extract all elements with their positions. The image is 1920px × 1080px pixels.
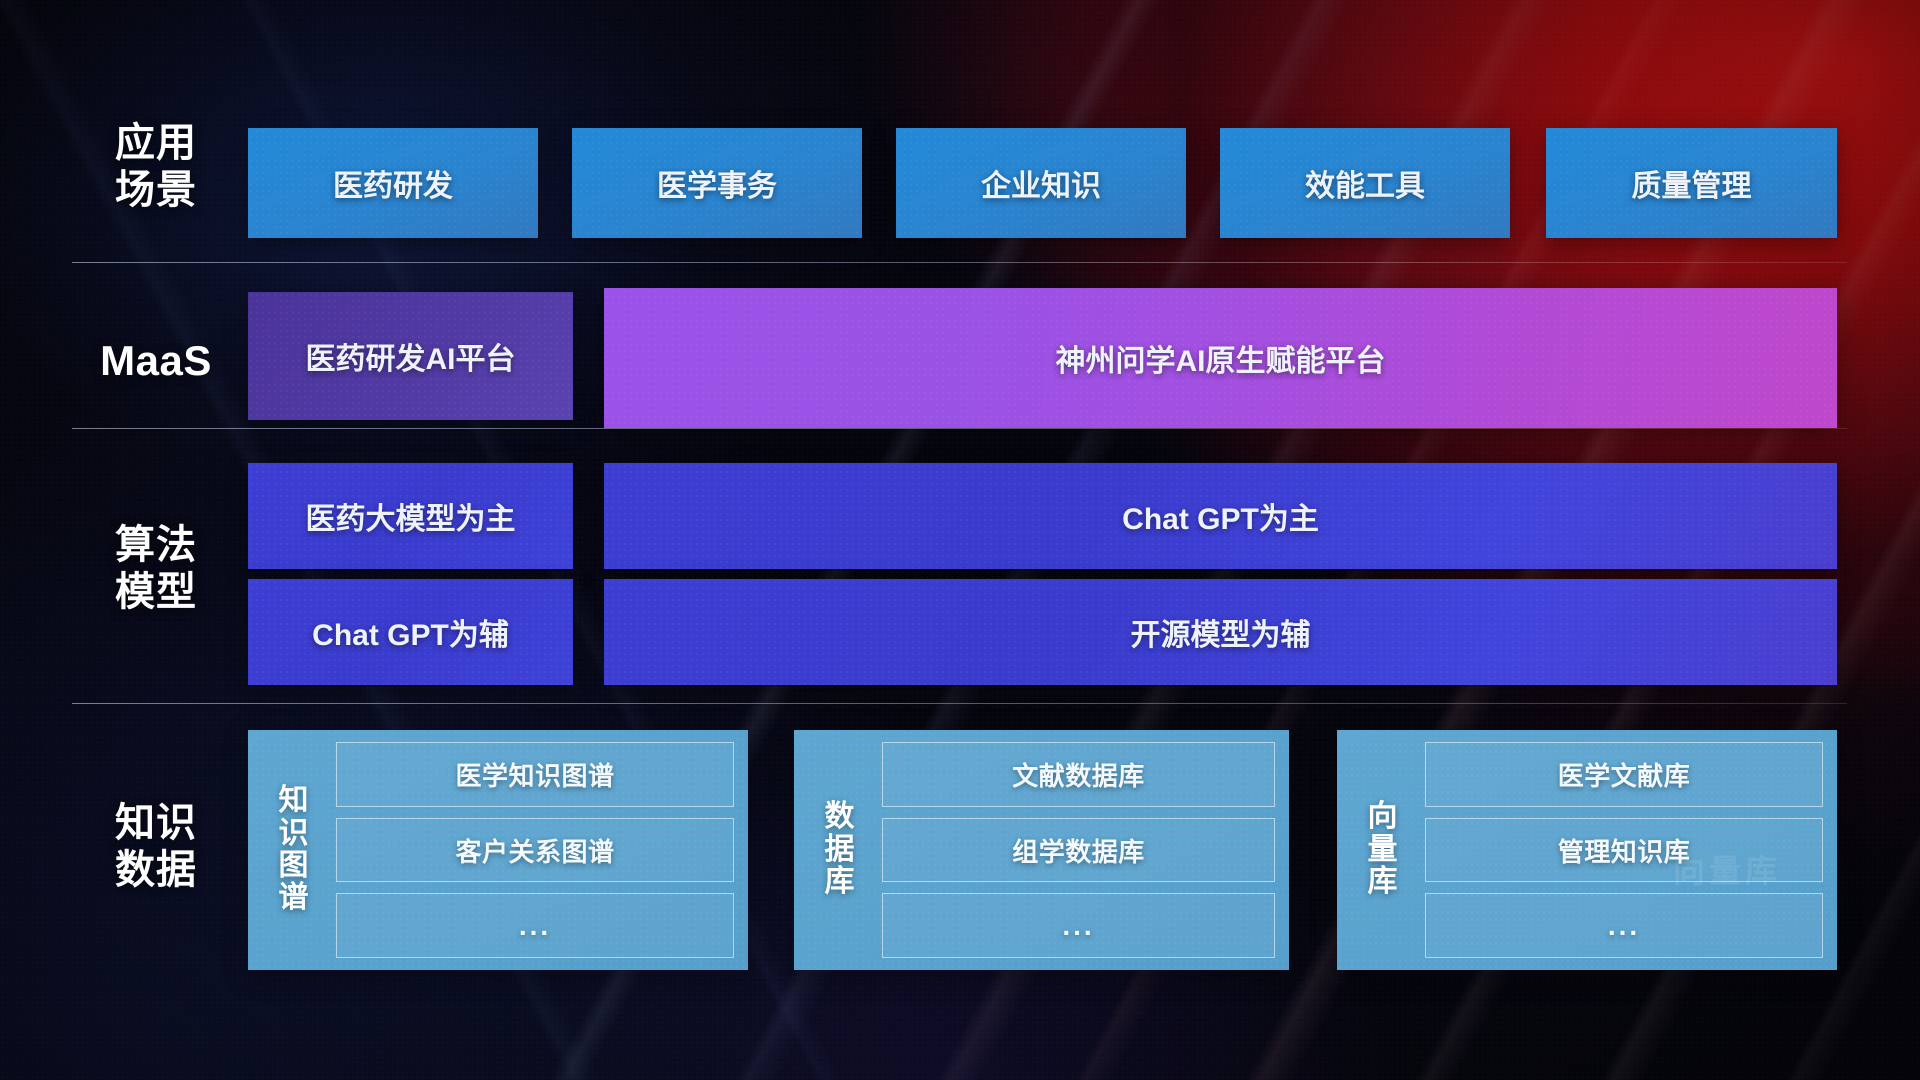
algorithm-box-chatgpt-primary[interactable]: Chat GPT为主 bbox=[604, 463, 1837, 569]
maas-box-pharma-ai-platform[interactable]: 医药研发AI平台 bbox=[248, 292, 573, 420]
diagram-canvas: 应用 场景 医药研发 医学事务 企业知识 效能工具 质量管理 MaaS 医药研发… bbox=[0, 0, 1920, 1080]
knowledge-group-vector-store[interactable]: 向 量 库 医学文献库 管理知识库 ... 向量库 bbox=[1337, 730, 1837, 970]
knowledge-group-title: 数 据 库 bbox=[794, 742, 872, 958]
row-label-application-scenarios: 应用 场景 bbox=[72, 120, 240, 214]
divider-after-maas bbox=[72, 428, 1847, 429]
knowledge-item[interactable]: 组学数据库 bbox=[882, 818, 1275, 883]
knowledge-group-items: 医学知识图谱 客户关系图谱 ... bbox=[326, 742, 734, 958]
algorithm-box-label: 医药大模型为主 bbox=[306, 494, 516, 538]
algorithm-box-label: 开源模型为辅 bbox=[1131, 610, 1311, 654]
knowledge-group-items: 文献数据库 组学数据库 ... bbox=[872, 742, 1275, 958]
algorithm-box-chatgpt-secondary[interactable]: Chat GPT为辅 bbox=[248, 579, 573, 685]
algorithm-box-pharma-large-model-primary[interactable]: 医药大模型为主 bbox=[248, 463, 573, 569]
knowledge-group-title: 向 量 库 bbox=[1337, 742, 1415, 958]
knowledge-item[interactable]: 管理知识库 bbox=[1425, 818, 1823, 883]
knowledge-item-more[interactable]: ... bbox=[882, 893, 1275, 958]
knowledge-group-database[interactable]: 数 据 库 文献数据库 组学数据库 ... bbox=[794, 730, 1289, 970]
app-box-label: 效能工具 bbox=[1305, 161, 1425, 205]
knowledge-group-items: 医学文献库 管理知识库 ... bbox=[1415, 742, 1823, 958]
app-box-pharma-rnd[interactable]: 医药研发 bbox=[248, 128, 538, 238]
app-box-medical-affairs[interactable]: 医学事务 bbox=[572, 128, 862, 238]
maas-box-label: 医药研发AI平台 bbox=[306, 334, 516, 378]
maas-box-label: 神州问学AI原生赋能平台 bbox=[1056, 336, 1386, 380]
row-label-maas: MaaS bbox=[72, 336, 240, 386]
app-box-label: 质量管理 bbox=[1632, 161, 1752, 205]
divider-after-algorithm-models bbox=[72, 703, 1847, 704]
knowledge-item[interactable]: 医学文献库 bbox=[1425, 742, 1823, 807]
divider-after-application-scenarios bbox=[72, 262, 1847, 263]
app-box-label: 医学事务 bbox=[657, 161, 777, 205]
knowledge-item[interactable]: 客户关系图谱 bbox=[336, 818, 734, 883]
algorithm-box-label: Chat GPT为辅 bbox=[312, 610, 509, 654]
app-box-efficiency-tools[interactable]: 效能工具 bbox=[1220, 128, 1510, 238]
knowledge-item[interactable]: 文献数据库 bbox=[882, 742, 1275, 807]
app-box-quality-management[interactable]: 质量管理 bbox=[1546, 128, 1837, 238]
algorithm-box-open-source-secondary[interactable]: 开源模型为辅 bbox=[604, 579, 1837, 685]
knowledge-group-knowledge-graph[interactable]: 知 识 图 谱 医学知识图谱 客户关系图谱 ... bbox=[248, 730, 748, 970]
app-box-label: 医药研发 bbox=[333, 161, 453, 205]
row-label-algorithm-models: 算法 模型 bbox=[72, 522, 240, 616]
app-box-label: 企业知识 bbox=[981, 161, 1101, 205]
knowledge-item-more[interactable]: ... bbox=[336, 893, 734, 958]
knowledge-item[interactable]: 医学知识图谱 bbox=[336, 742, 734, 807]
algorithm-box-label: Chat GPT为主 bbox=[1122, 494, 1319, 538]
maas-box-shenzhou-wenxue-platform[interactable]: 神州问学AI原生赋能平台 bbox=[604, 288, 1837, 428]
row-label-knowledge-data: 知识 数据 bbox=[72, 800, 240, 894]
knowledge-group-title: 知 识 图 谱 bbox=[248, 742, 326, 958]
knowledge-item-more[interactable]: ... bbox=[1425, 893, 1823, 958]
app-box-enterprise-knowledge[interactable]: 企业知识 bbox=[896, 128, 1186, 238]
